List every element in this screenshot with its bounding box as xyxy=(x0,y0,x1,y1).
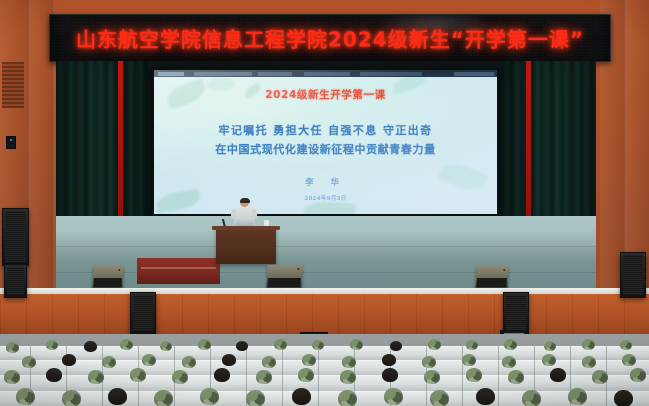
audience-head xyxy=(390,341,402,351)
pa-speaker-left-floor xyxy=(130,292,156,334)
audience-head xyxy=(342,356,356,368)
audience-head xyxy=(382,354,396,366)
audience-head xyxy=(298,368,314,382)
audience-head xyxy=(582,339,595,350)
audience-head xyxy=(466,340,478,350)
audience-head xyxy=(292,388,311,405)
slide-line-1: 牢记嘱托 勇担大任 自强不息 守正出奇 xyxy=(154,122,497,138)
audience-head xyxy=(236,341,248,351)
audience-area xyxy=(0,334,649,406)
wall-vent-left xyxy=(2,62,24,108)
audience-head xyxy=(200,388,219,405)
audience-head xyxy=(172,370,188,384)
audience-head xyxy=(340,370,356,384)
pa-speaker-left-floor-grille xyxy=(133,295,153,331)
seat-divider xyxy=(498,346,499,406)
projection-screen-frame: 2024级新生开学第一课 牢记嘱托 勇担大任 自强不息 守正出奇 在中国式现代化… xyxy=(152,68,499,216)
audience-head xyxy=(504,339,517,350)
led-banner: 山东航空学院信息工程学院2024级新生“开学第一课” xyxy=(49,14,611,62)
audience-head xyxy=(620,340,632,350)
audience-head xyxy=(142,354,156,366)
audience-head xyxy=(422,356,436,368)
audience-head xyxy=(274,339,287,350)
stage-monitor-left-grille xyxy=(93,278,121,287)
stage-monitor-right xyxy=(475,266,508,288)
presenter-arm-left xyxy=(231,209,236,219)
audience-head xyxy=(46,368,62,382)
pa-speaker-left-upper-grille xyxy=(5,211,26,263)
seat-divider xyxy=(318,346,319,406)
stage-monitor-center-grille xyxy=(267,278,300,287)
audience-head xyxy=(120,339,133,350)
wall-device-left xyxy=(6,136,16,149)
stage-floor-seam-1 xyxy=(56,246,596,247)
stage-apron xyxy=(0,288,649,334)
audience-head xyxy=(542,354,556,366)
audience-head xyxy=(550,368,566,382)
audience-head xyxy=(424,370,440,384)
audience-head xyxy=(108,388,127,405)
pa-speaker-left-upper xyxy=(2,208,29,266)
stage-monitor-right-grille xyxy=(476,278,506,287)
projection-screen: 2024级新生开学第一课 牢记嘱托 勇担大任 自强不息 守正出奇 在中国式现代化… xyxy=(154,70,497,214)
audience-head xyxy=(160,341,172,351)
audience-head xyxy=(222,354,236,366)
stage-monitor-right-led xyxy=(503,269,505,271)
seat-divider xyxy=(282,346,283,406)
audience-head xyxy=(262,356,276,368)
led-banner-text: 山东航空学院信息工程学院2024级新生“开学第一课” xyxy=(50,24,610,53)
audience-head xyxy=(256,370,272,384)
audience-head xyxy=(430,390,449,406)
audience-head xyxy=(544,341,556,351)
audience-head xyxy=(302,354,316,366)
slide-line-2: 在中国式现代化建设新征程中贡献青春力量 xyxy=(154,141,497,157)
audience-head xyxy=(476,388,495,405)
stage-backdrop-panel-line xyxy=(141,267,216,269)
auditorium-photo: 山东航空学院信息工程学院2024级新生“开学第一课” xyxy=(0,0,649,406)
audience-head xyxy=(466,368,482,382)
audience-head xyxy=(502,356,516,368)
stage-backdrop-panel xyxy=(137,258,220,284)
audience-head xyxy=(384,388,403,405)
audience-head xyxy=(246,390,265,406)
audience-head xyxy=(592,370,608,384)
projector-taskbar xyxy=(154,70,497,77)
audience-head xyxy=(582,356,596,368)
audience-head xyxy=(102,356,116,368)
audience-head xyxy=(62,390,81,406)
slide-title: 2024级新生开学第一课 xyxy=(154,87,497,102)
audience-head xyxy=(46,340,58,350)
audience-head xyxy=(350,339,363,350)
audience-head xyxy=(214,368,230,382)
pa-speaker-right-floor-grille xyxy=(506,295,526,331)
pa-speaker-left-lower-grille xyxy=(7,267,24,295)
stage-monitor-center-led xyxy=(297,268,299,270)
audience-head xyxy=(22,356,36,368)
stage-monitor-left-led xyxy=(118,269,120,271)
audience-head xyxy=(154,390,173,406)
audience-head xyxy=(16,388,35,405)
audience-head xyxy=(382,368,398,382)
seat-row xyxy=(0,391,649,406)
audience-head xyxy=(522,390,541,406)
audience-head xyxy=(508,370,524,384)
audience-head xyxy=(428,339,441,350)
audience-head xyxy=(130,368,146,382)
stage-apron-edge xyxy=(0,288,649,294)
audience-head xyxy=(338,390,357,406)
slide-speaker-name: 李 华 xyxy=(154,176,497,188)
audience-head xyxy=(622,354,636,366)
audience-head xyxy=(182,356,196,368)
pa-speaker-right-upper xyxy=(620,252,646,298)
audience-head xyxy=(614,390,633,406)
slide-leaf-7 xyxy=(304,200,357,214)
stage-apron-grain xyxy=(0,294,649,334)
audience-head xyxy=(6,342,19,353)
stage-monitor-center xyxy=(266,265,302,288)
podium xyxy=(216,228,276,264)
audience-head xyxy=(462,354,476,366)
audience-head xyxy=(198,339,211,350)
audience-head xyxy=(568,388,587,405)
slide-date: 2024年9月3日 xyxy=(154,194,497,202)
audience-head xyxy=(630,368,646,382)
presenter-hair xyxy=(240,198,250,203)
audience-head xyxy=(88,370,104,384)
pa-speaker-left-lower xyxy=(4,264,27,298)
pa-speaker-right-upper-grille xyxy=(623,255,643,295)
audience-head xyxy=(84,341,97,352)
pa-speaker-right-floor xyxy=(503,292,529,334)
stage-monitor-left xyxy=(92,266,123,288)
audience-head xyxy=(62,354,76,366)
audience-head xyxy=(4,370,20,384)
audience-head xyxy=(312,340,324,350)
